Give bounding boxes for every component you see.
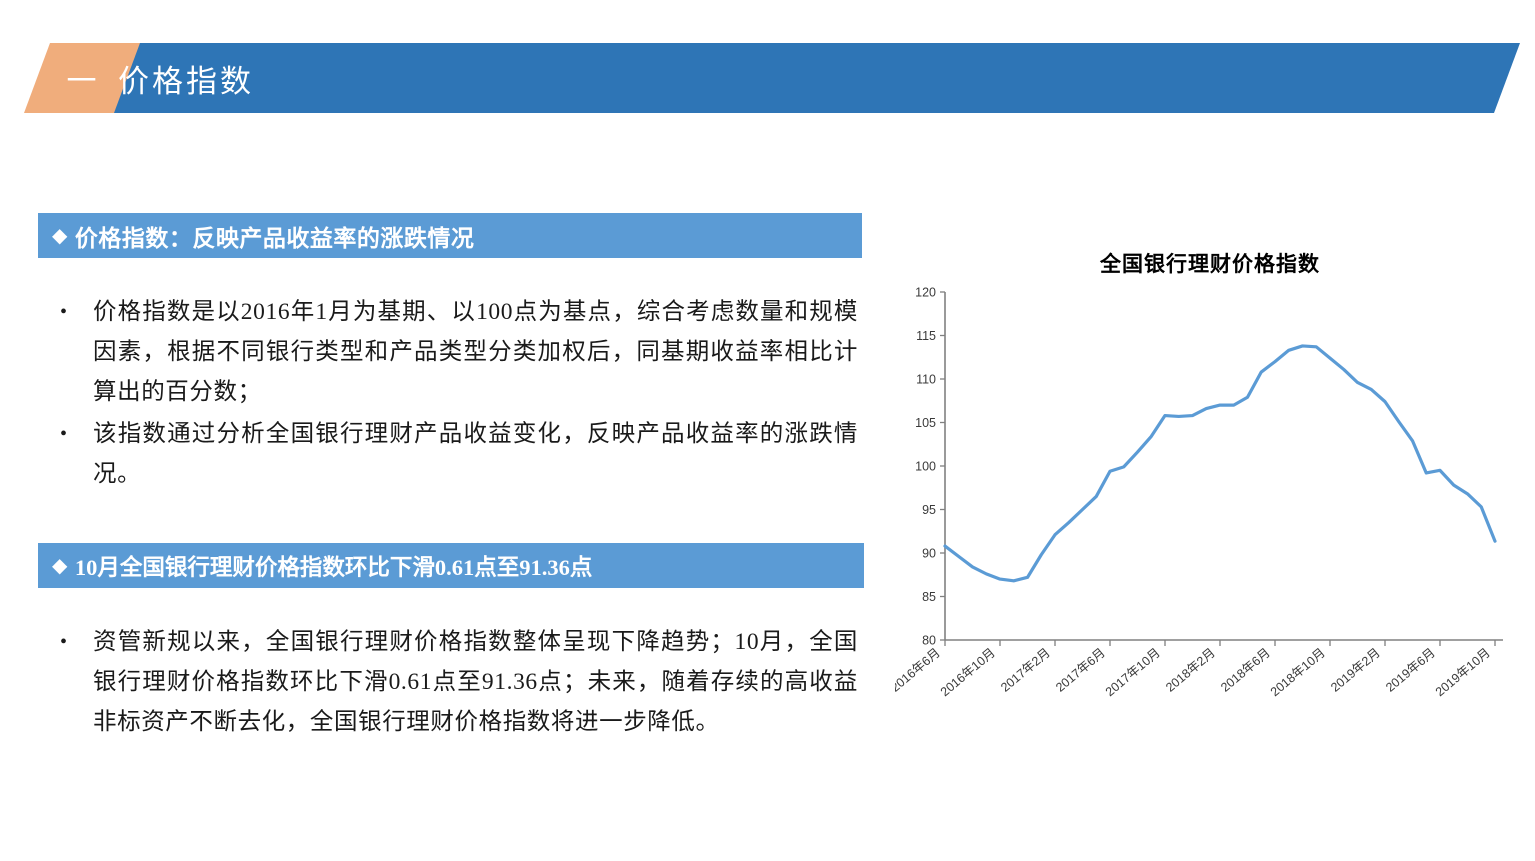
x-tick-label: 2018年2月: [1163, 646, 1218, 695]
y-tick-label: 120: [915, 286, 936, 300]
bullet-dot-icon: •: [60, 622, 68, 662]
diamond-icon: ◆: [52, 226, 68, 246]
section-banner-label: 10月全国银行理财价格指数环比下滑0.61点至91.36点: [75, 550, 593, 582]
x-tick-label: 2017年6月: [1053, 646, 1108, 695]
y-tick-label: 110: [916, 373, 936, 387]
x-tick-label: 2017年10月: [1103, 646, 1163, 700]
x-tick-label: 2019年10月: [1433, 646, 1493, 700]
series-line-price-index: [945, 346, 1495, 581]
y-tick-label: 90: [922, 547, 936, 561]
x-tick-label: 2018年10月: [1268, 646, 1328, 700]
y-tick-label: 105: [915, 416, 936, 430]
content-column: ◆ 价格指数：反映产品收益率的涨跌情况 • 价格指数是以2016年1月为基期、以…: [0, 0, 900, 861]
list-item: • 资管新规以来，全国银行理财价格指数整体呈现下降趋势；10月，全国银行理财价格…: [38, 622, 858, 742]
section-banner-october-change: ◆ 10月全国银行理财价格指数环比下滑0.61点至91.36点: [38, 543, 864, 588]
x-tick-label: 2018年6月: [1218, 646, 1273, 695]
y-tick-label: 80: [922, 634, 936, 648]
section-banner-label: 价格指数：反映产品收益率的涨跌情况: [75, 219, 475, 253]
x-axis: 2016年6月2016年10月2017年2月2017年6月2017年10月201…: [895, 640, 1503, 699]
list-item: • 该指数通过分析全国银行理财产品收益变化，反映产品收益率的涨跌情况。: [38, 414, 858, 494]
price-index-line-chart: 80859095100105110115120 2016年6月2016年10月2…: [895, 230, 1525, 750]
x-tick-label: 2016年10月: [938, 646, 998, 700]
list-item-text: 价格指数是以2016年1月为基期、以100点为基点，综合考虑数量和规模因素，根据…: [93, 299, 858, 405]
x-tick-label: 2019年2月: [1328, 646, 1383, 695]
chart-panel: 全国银行理财价格指数 80859095100105110115120 2016年…: [895, 230, 1525, 750]
section-banner-price-index: ◆ 价格指数：反映产品收益率的涨跌情况: [38, 213, 862, 258]
bullet-dot-icon: •: [60, 292, 68, 332]
bullet-list-analysis: • 资管新规以来，全国银行理财价格指数整体呈现下降趋势；10月，全国银行理财价格…: [38, 622, 858, 744]
bullet-dot-icon: •: [60, 414, 68, 454]
y-axis: 80859095100105110115120: [915, 286, 945, 648]
y-tick-label: 95: [922, 503, 936, 517]
x-tick-label: 2016年6月: [895, 646, 943, 695]
y-tick-label: 85: [922, 590, 936, 604]
diamond-icon: ◆: [52, 556, 68, 576]
x-tick-label: 2019年6月: [1383, 646, 1438, 695]
x-tick-label: 2017年2月: [998, 646, 1053, 695]
y-tick-label: 100: [915, 460, 936, 474]
bullet-list-definition: • 价格指数是以2016年1月为基期、以100点为基点，综合考虑数量和规模因素，…: [38, 292, 858, 496]
list-item-text: 资管新规以来，全国银行理财价格指数整体呈现下降趋势；10月，全国银行理财价格指数…: [93, 629, 858, 735]
y-tick-label: 115: [916, 329, 936, 343]
list-item: • 价格指数是以2016年1月为基期、以100点为基点，综合考虑数量和规模因素，…: [38, 292, 858, 412]
list-item-text: 该指数通过分析全国银行理财产品收益变化，反映产品收益率的涨跌情况。: [93, 421, 858, 487]
